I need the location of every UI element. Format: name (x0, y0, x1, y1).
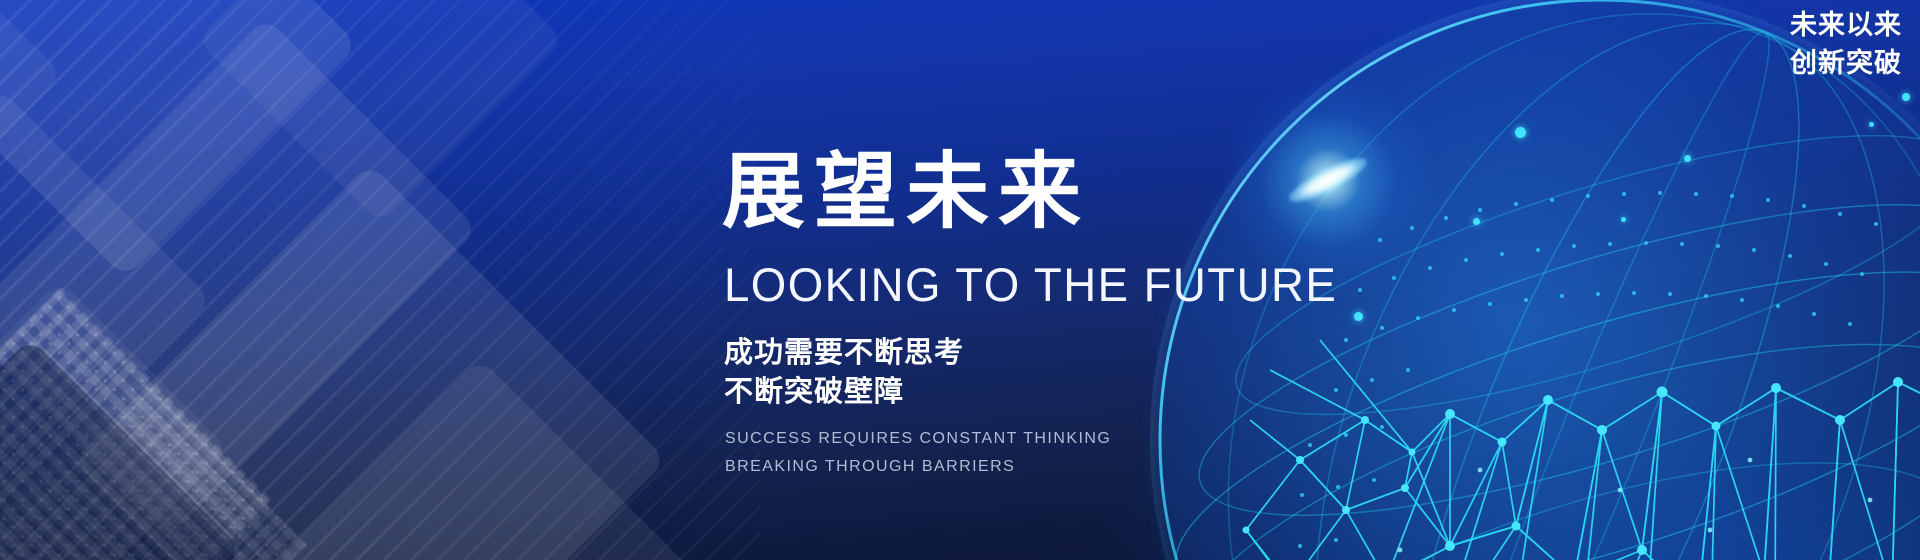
deco-diamond-4 (73, 163, 667, 560)
spark-dot (1621, 217, 1626, 222)
deco-diamond-6 (268, 358, 692, 560)
deco-hairlines (0, 0, 760, 560)
deco-diamond-1 (0, 0, 358, 278)
deco-diamond-3 (0, 88, 212, 512)
deco-diamond-2 (0, 17, 478, 533)
promo-banner: 展望未来 LOOKING TO THE FUTURE 成功需要不断思考 不断突破… (0, 0, 1920, 560)
subtitle-chinese-line-1: 成功需要不断思考 (724, 334, 1342, 373)
subtitle-english: SUCCESS REQUIRES CONSTANT THINKING BREAK… (725, 425, 1342, 480)
spark-dot (1473, 218, 1480, 225)
spark-dot (1902, 93, 1910, 101)
deco-diamond-5 (0, 280, 230, 560)
title-english: LOOKING TO THE FUTURE (724, 261, 1323, 308)
spark-dot (1869, 122, 1874, 127)
subtitle-english-line-1: SUCCESS REQUIRES CONSTANT THINKING (725, 425, 1342, 453)
spark-dot (1684, 155, 1691, 162)
subtitle-chinese: 成功需要不断思考 不断突破壁障 (724, 334, 1342, 411)
deco-dark-wedge (0, 338, 242, 560)
subtitle-english-line-2: BREAKING THROUGH BARRIERS (725, 453, 1342, 481)
deco-dot-grid (0, 288, 272, 560)
title-chinese: 展望未来 (722, 150, 1342, 233)
spark-dot (1354, 312, 1363, 321)
corner-slogan: 未来以来 创新突破 (1790, 6, 1902, 83)
corner-slogan-line-2: 创新突破 (1790, 44, 1902, 82)
deco-diamond-8 (196, 0, 564, 224)
corner-slogan-line-1: 未来以来 (1790, 6, 1902, 44)
deco-dot-grid-2 (0, 382, 308, 560)
spark-dot (1515, 127, 1526, 138)
headline-block: 展望未来 LOOKING TO THE FUTURE 成功需要不断思考 不断突破… (722, 150, 1342, 480)
subtitle-chinese-line-2: 不断突破壁障 (724, 373, 1342, 412)
deco-diamond-7 (0, 0, 63, 223)
